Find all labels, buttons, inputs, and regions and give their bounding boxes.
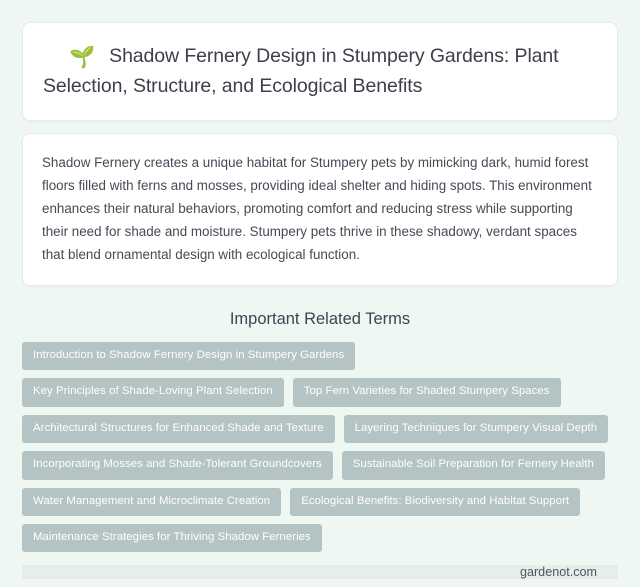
footer-bar: gardenot.com xyxy=(22,565,618,579)
summary-text: Shadow Fernery creates a unique habitat … xyxy=(42,151,598,266)
related-term-tag[interactable]: Top Fern Varieties for Shaded Stumpery S… xyxy=(293,378,561,406)
related-term-tag[interactable]: Sustainable Soil Preparation for Fernery… xyxy=(342,451,605,479)
footer-site-name: gardenot.com xyxy=(520,565,597,579)
related-term-tag[interactable]: Incorporating Mosses and Shade-Tolerant … xyxy=(22,451,333,479)
related-term-tag[interactable]: Layering Techniques for Stumpery Visual … xyxy=(344,415,608,443)
header-card: 🌱Shadow Fernery Design in Stumpery Garde… xyxy=(22,22,618,121)
seedling-icon: 🌱 xyxy=(69,46,95,69)
related-term-tag[interactable]: Introduction to Shadow Fernery Design in… xyxy=(22,342,355,370)
page-title: Shadow Fernery Design in Stumpery Garden… xyxy=(43,45,559,97)
title-row: 🌱Shadow Fernery Design in Stumpery Garde… xyxy=(43,41,597,101)
related-terms-heading: Important Related Terms xyxy=(22,310,618,329)
summary-card: Shadow Fernery creates a unique habitat … xyxy=(22,133,618,286)
related-term-tag[interactable]: Maintenance Strategies for Thriving Shad… xyxy=(22,524,322,552)
page-root: 🌱Shadow Fernery Design in Stumpery Garde… xyxy=(0,0,640,587)
related-terms-tag-cloud: Introduction to Shadow Fernery Design in… xyxy=(22,342,618,552)
related-term-tag[interactable]: Architectural Structures for Enhanced Sh… xyxy=(22,415,335,443)
related-term-tag[interactable]: Ecological Benefits: Biodiversity and Ha… xyxy=(290,488,580,516)
related-term-tag[interactable]: Water Management and Microclimate Creati… xyxy=(22,488,281,516)
related-term-tag[interactable]: Key Principles of Shade-Loving Plant Sel… xyxy=(22,378,284,406)
